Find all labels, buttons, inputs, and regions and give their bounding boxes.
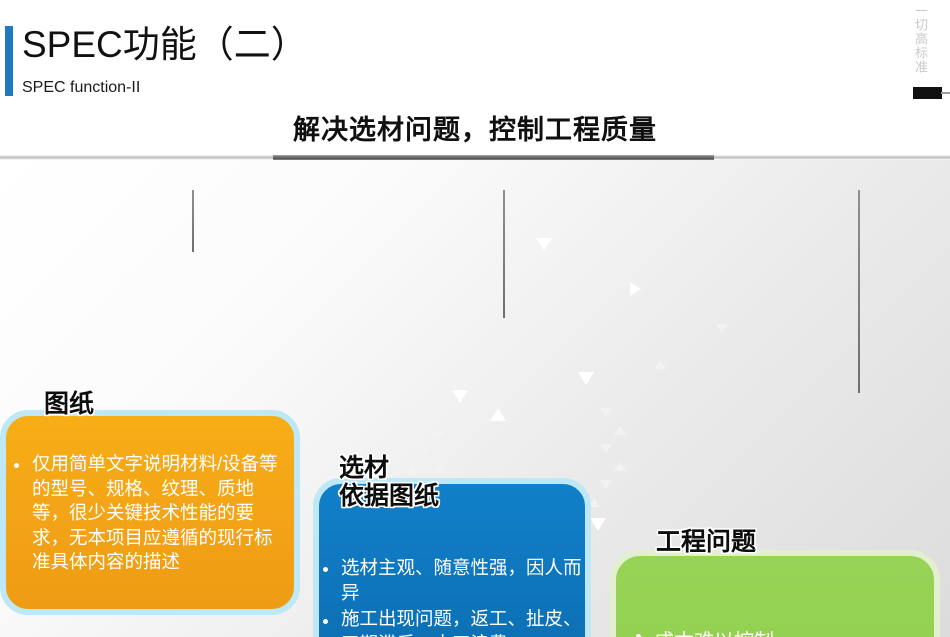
section-heading: 解决选材问题，控制工程质量 (0, 108, 950, 147)
triangle-decor-icon (452, 390, 468, 403)
card-engineering-title: 工程问题 (656, 528, 756, 556)
card-selection-title: 选材 依据图纸 (339, 454, 439, 510)
card-selection-bullet-list: 选材主观、随意性强，因人而异 施工出现问题，返工、扯皮、工期滞后、人工浪费 (321, 556, 583, 637)
slide-body: 图纸 仅用简单文字说明材料/设备等的型号、规格、纹理、质地等，很少关键技术性能的… (0, 160, 950, 637)
card-drawing-title: 图纸 (44, 390, 94, 418)
triangle-decor-icon (600, 408, 612, 417)
corner-mark-tail (941, 92, 950, 94)
triangle-decor-icon (654, 360, 666, 369)
triangle-decor-icon (630, 282, 641, 296)
slide-canvas: SPEC功能（二） SPEC function-II 一切高标准 解决选材问题，… (0, 0, 950, 637)
slide-header: SPEC功能（二） SPEC function-II 一切高标准 解决选材问题，… (0, 0, 950, 160)
connector-line-engineering (858, 190, 860, 393)
card-drawing[interactable]: 图纸 仅用简单文字说明材料/设备等的型号、规格、纹理、质地等，很少关键技术性能的… (0, 410, 300, 615)
card-drawing-bullet-list: 仅用简单文字说明材料/设备等的型号、规格、纹理、质地等，很少关键技术性能的要求，… (12, 452, 288, 577)
triangle-decor-icon (614, 426, 626, 435)
title-accent-bar (5, 26, 13, 96)
triangle-decor-icon (536, 238, 552, 251)
triangle-decor-icon (392, 410, 404, 419)
card-engineering[interactable]: 工程问题 成本难以控制 工程质量难以保证 (610, 550, 940, 637)
list-item: 施工出现问题，返工、扯皮、工期滞后、人工浪费 (321, 607, 583, 637)
triangle-decor-icon (434, 428, 446, 437)
triangle-decor-icon (590, 518, 606, 531)
triangle-decor-icon (600, 480, 612, 489)
connector-line-selection (503, 190, 505, 318)
list-item: 仅用简单文字说明材料/设备等的型号、规格、纹理、质地等，很少关键技术性能的要求，… (12, 452, 288, 575)
triangle-decor-icon (716, 324, 728, 333)
list-item: 选材主观、随意性强，因人而异 (321, 556, 583, 605)
page-subtitle: SPEC function-II (22, 79, 140, 97)
header-divider-dark (273, 155, 714, 160)
triangle-decor-icon (406, 428, 418, 437)
triangle-decor-icon (600, 444, 612, 453)
triangle-decor-icon (490, 408, 506, 421)
card-selection[interactable]: 选材 依据图纸 选材主观、随意性强，因人而异 施工出现问题，返工、扯皮、工期滞后… (313, 478, 591, 637)
list-item: 成本难以控制 (634, 622, 926, 637)
connector-line-drawing (192, 190, 194, 252)
card-engineering-bullet-list: 成本难以控制 工程质量难以保证 (634, 622, 926, 637)
triangle-decor-icon (614, 462, 626, 471)
triangle-decor-icon (578, 372, 594, 385)
vertical-motto-text: 一切高标准 (912, 4, 928, 74)
corner-mark-block (913, 87, 942, 99)
triangle-decor-icon (420, 410, 432, 419)
page-title: SPEC功能（二） (22, 22, 308, 68)
